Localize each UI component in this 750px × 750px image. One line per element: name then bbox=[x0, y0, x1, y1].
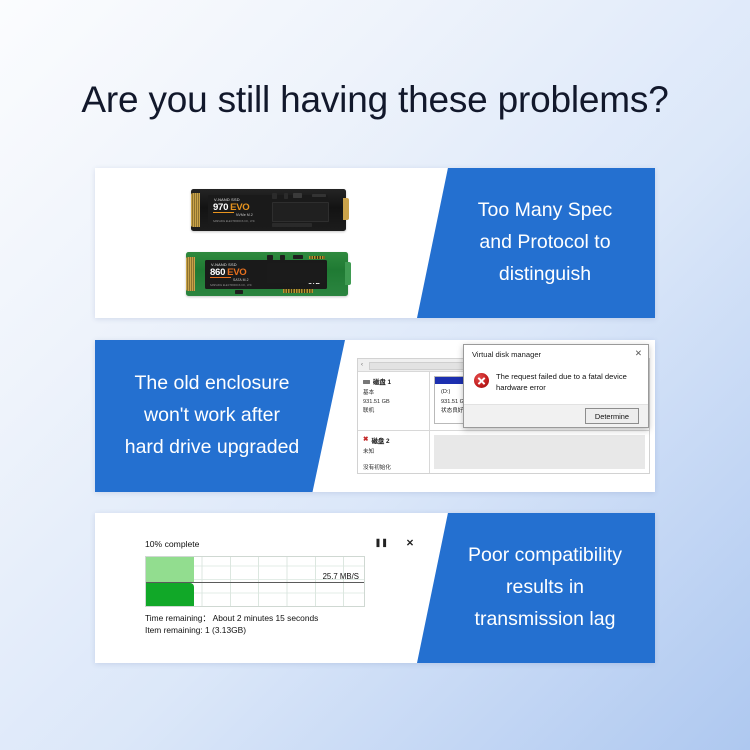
disk-header: ✖ 磁盘 2 bbox=[363, 436, 429, 445]
ssd-chip bbox=[293, 255, 303, 259]
ssd-chip bbox=[272, 202, 330, 222]
ssd-chip bbox=[267, 263, 325, 283]
panel-1-caption: Too Many Spec and Protocol to distinguis… bbox=[417, 195, 655, 290]
error-dialog-title: Virtual disk manager bbox=[472, 350, 541, 359]
transfer-speed-label: 25.7 MB/S bbox=[323, 572, 359, 581]
ssd-fine-print: SAMSUNG ELECTRONICS CO., LTD. bbox=[210, 285, 252, 287]
ssd-970-evo: V-NAND SSD 970EVO NVMe M.2 1TB SAMSUNG E… bbox=[191, 189, 346, 231]
disk-name: 磁盘 1 bbox=[373, 377, 391, 386]
disk-error-icon: ✖ bbox=[363, 437, 368, 444]
disk-header: 磁盘 1 bbox=[363, 377, 429, 386]
caption-line: Too Many Spec bbox=[445, 195, 645, 227]
ssd-model-suffix: EVO bbox=[227, 267, 246, 278]
disk-info-column: 磁盘 1 基本 931.51 GB 联机 bbox=[358, 372, 430, 430]
ssd-interface-text: NVMe M.2 bbox=[236, 213, 253, 217]
ssd-860-evo: V-NAND SSD 860EVO SATA M.2 1TB SAMSUNG E… bbox=[186, 252, 348, 296]
chevron-left-icon[interactable]: ‹ bbox=[361, 362, 363, 368]
disk-name: 磁盘 2 bbox=[371, 436, 389, 445]
ssd-chip bbox=[312, 194, 326, 197]
caption-line: Poor compatibility bbox=[445, 540, 645, 572]
error-dialog-body: The request failed due to a fatal device… bbox=[464, 364, 648, 406]
caption-line: won't work after bbox=[105, 400, 319, 432]
ssd-gold-connector bbox=[191, 193, 200, 227]
panel-2-caption-block: The old enclosure won't work after hard … bbox=[95, 340, 345, 492]
ssd-chip bbox=[235, 290, 243, 294]
disk-icon bbox=[363, 380, 370, 384]
graph-midline bbox=[146, 582, 364, 583]
disk-type: 基本 bbox=[363, 389, 429, 398]
transfer-speed-graph: 25.7 MB/S bbox=[145, 556, 365, 607]
progress-fill-light bbox=[146, 557, 194, 582]
caption-line: and Protocol to bbox=[445, 227, 645, 259]
ssd-label-rule bbox=[213, 212, 234, 213]
ssd-gold-pads bbox=[283, 289, 313, 293]
ssd-mount-tab bbox=[345, 262, 351, 285]
panel-3-caption-block: Poor compatibility results in transmissi… bbox=[417, 513, 655, 663]
ssd-chip bbox=[284, 193, 288, 199]
progress-fill-dark bbox=[146, 583, 194, 607]
disk-type: 未知 bbox=[363, 448, 429, 457]
ssd-mount-tab bbox=[343, 198, 349, 220]
caption-line: distinguish bbox=[445, 259, 645, 291]
panel-3-caption: Poor compatibility results in transmissi… bbox=[417, 540, 655, 635]
error-dialog-titlebar: Virtual disk manager ✕ bbox=[464, 345, 648, 364]
ssd-chip bbox=[267, 255, 273, 260]
disk-status: 没有初始化 bbox=[363, 464, 429, 473]
page-title: Are you still having these problems? bbox=[0, 79, 750, 121]
unallocated-block[interactable] bbox=[434, 435, 645, 469]
caption-line: transmission lag bbox=[445, 604, 645, 636]
ssd-chip bbox=[293, 193, 302, 198]
poster-canvas: Are you still having these problems? V-N… bbox=[0, 0, 750, 750]
virtual-disk-manager-error-dialog: Virtual disk manager ✕ The request faile… bbox=[463, 344, 649, 428]
ssd-interface-text: SATA M.2 bbox=[233, 278, 249, 282]
panel-1-caption-block: Too Many Spec and Protocol to distinguis… bbox=[417, 168, 655, 318]
caption-line: results in bbox=[445, 572, 645, 604]
ssd-model-text: 860EVO bbox=[210, 268, 246, 278]
time-remaining-label: Time remaining： About 2 minutes 15 secon… bbox=[145, 612, 417, 624]
ssd-model-number: 970 bbox=[213, 202, 228, 213]
ssd-fine-print: SAMSUNG ELECTRONICS CO., LTD. bbox=[213, 221, 255, 223]
item-remaining-label: Item remaining: 1 (3.13GB) bbox=[145, 624, 417, 636]
ssd-photo-group: V-NAND SSD 970EVO NVMe M.2 1TB SAMSUNG E… bbox=[95, 168, 417, 318]
panel-old-enclosure: The old enclosure won't work after hard … bbox=[95, 340, 655, 492]
copy-dialog-header: 10% complete ❚❚ ✕ bbox=[145, 539, 417, 553]
caption-line: hard drive upgraded bbox=[105, 432, 319, 464]
panel-spec-protocol: V-NAND SSD 970EVO NVMe M.2 1TB SAMSUNG E… bbox=[95, 168, 655, 318]
ssd-label-rule bbox=[210, 277, 231, 278]
ssd-chip bbox=[272, 223, 312, 227]
copy-percent-label: 10% complete bbox=[145, 539, 199, 549]
ssd-chip bbox=[280, 255, 285, 260]
close-icon[interactable]: ✕ bbox=[406, 539, 414, 549]
panel-poor-compatibility: 10% complete ❚❚ ✕ 25.7 MB/S Time remaini… bbox=[95, 513, 655, 663]
ssd-model-text: 970EVO bbox=[213, 203, 249, 213]
disk-size: 931.51 GB bbox=[363, 398, 429, 407]
ssd-model-number: 860 bbox=[210, 267, 225, 278]
pause-icon[interactable]: ❚❚ bbox=[375, 539, 388, 548]
file-copy-progress-dialog: 10% complete ❚❚ ✕ 25.7 MB/S Time remaini… bbox=[145, 539, 417, 639]
ssd-chip bbox=[272, 193, 277, 199]
disk-row-2[interactable]: ✖ 磁盘 2 未知 没有初始化 bbox=[358, 431, 649, 474]
copy-dialog-footer: Time remaining： About 2 minutes 15 secon… bbox=[145, 612, 417, 636]
error-message: The request failed due to a fatal device… bbox=[496, 372, 638, 394]
ssd-model-suffix: EVO bbox=[230, 202, 249, 213]
caption-line: The old enclosure bbox=[105, 368, 319, 400]
close-icon[interactable]: ✕ bbox=[635, 349, 642, 358]
error-icon bbox=[474, 373, 489, 388]
disk-volume-column bbox=[430, 431, 649, 474]
disk-info-column: ✖ 磁盘 2 未知 没有初始化 bbox=[358, 431, 430, 474]
ssd-gold-connector bbox=[186, 257, 195, 291]
error-dialog-footer: Determine bbox=[464, 404, 648, 427]
determine-button[interactable]: Determine bbox=[585, 408, 639, 424]
panel-2-caption: The old enclosure won't work after hard … bbox=[95, 368, 345, 463]
disk-status: 联机 bbox=[363, 407, 429, 416]
ssd-gold-pads bbox=[309, 256, 325, 259]
